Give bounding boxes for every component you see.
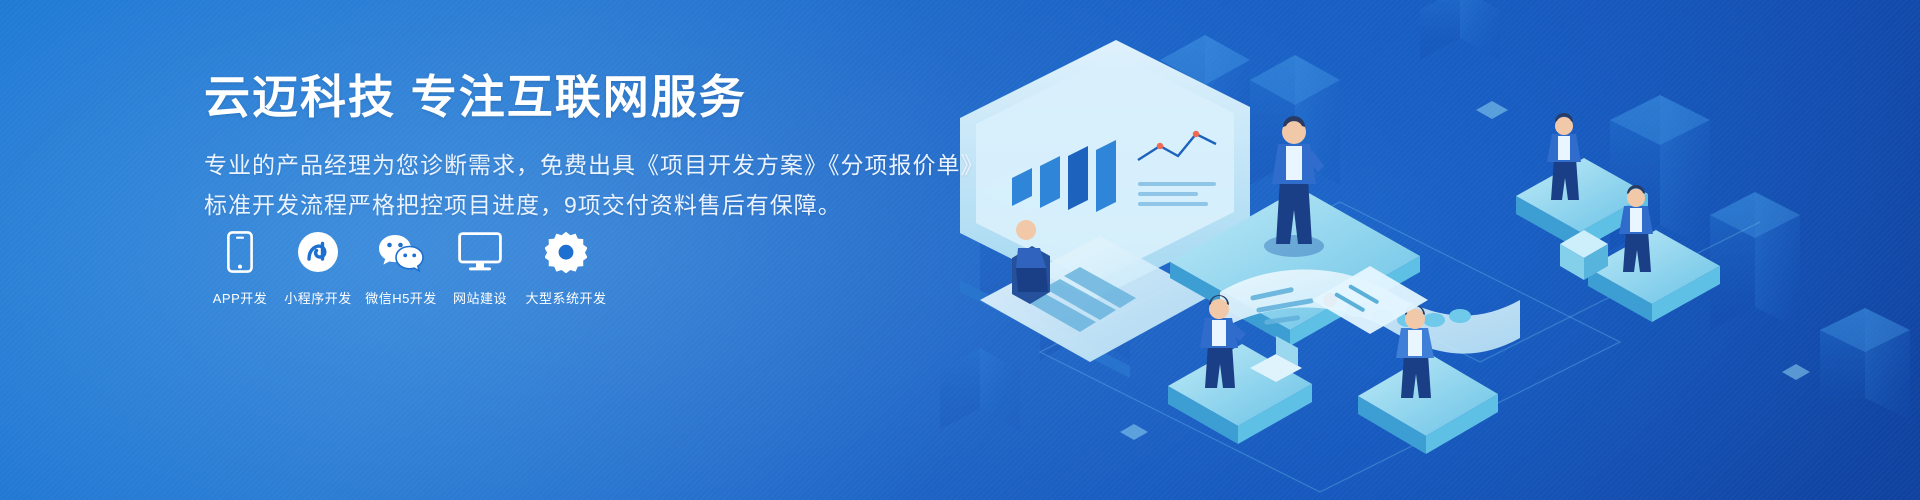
gear-icon <box>518 228 614 276</box>
subtitle-line-1: 专业的产品经理为您诊断需求，免费出具《项目开发方案》《分项报价单》 <box>204 146 944 186</box>
service-label: 微信H5开发 <box>360 288 442 307</box>
service-list: APP开发 小程序开发 <box>204 228 617 307</box>
service-item-mini-program[interactable]: 小程序开发 <box>279 228 357 307</box>
wechat-icon <box>360 228 442 276</box>
hero-banner: 云迈科技 专注互联网服务 专业的产品经理为您诊断需求，免费出具《项目开发方案》《… <box>0 0 1920 500</box>
hero-subtitle: 专业的产品经理为您诊断需求，免费出具《项目开发方案》《分项报价单》 标准开发流程… <box>204 146 944 225</box>
page-title: 云迈科技 专注互联网服务 <box>204 70 944 124</box>
service-item-wechat-h5[interactable]: 微信H5开发 <box>360 228 442 307</box>
hero-illustration <box>920 0 1920 500</box>
monitor-icon <box>445 228 515 276</box>
service-label: 网站建设 <box>445 288 515 307</box>
smartphone-icon <box>204 228 276 276</box>
mini-program-icon <box>279 228 357 276</box>
service-item-app[interactable]: APP开发 <box>204 228 276 307</box>
subtitle-line-2: 标准开发流程严格把控项目进度，9项交付资料售后有保障。 <box>204 186 944 226</box>
service-label: 大型系统开发 <box>518 288 614 307</box>
service-item-website[interactable]: 网站建设 <box>445 228 515 307</box>
service-label: APP开发 <box>204 288 276 307</box>
hero-copy: 云迈科技 专注互联网服务 专业的产品经理为您诊断需求，免费出具《项目开发方案》《… <box>204 70 944 225</box>
service-label: 小程序开发 <box>279 288 357 307</box>
service-item-large-system[interactable]: 大型系统开发 <box>518 228 614 307</box>
